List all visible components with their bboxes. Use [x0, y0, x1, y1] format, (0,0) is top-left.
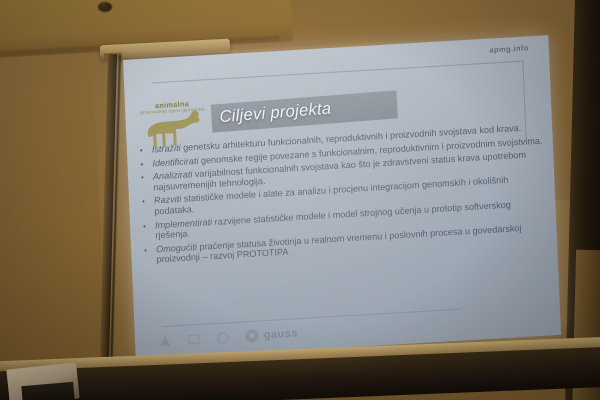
bullet-list: • Istražiti genetsku arhitekturu funkcio… [147, 122, 550, 269]
bullet-dot-icon: • [144, 246, 147, 257]
gauss-flower-icon [244, 327, 261, 344]
bullet-dot-icon: • [140, 160, 143, 171]
partner-logo-mark-2-icon [186, 331, 203, 348]
slide-header-label: apmg.info [489, 43, 529, 54]
bullet-lead: Identificirati [152, 155, 198, 168]
partner-logo-mark-icon [157, 333, 174, 350]
bullet-lead: Istražiti [152, 143, 181, 155]
bullet-dot-icon: • [143, 222, 146, 233]
presentation-slide: apmg.info animalna proizvodnja njena gen… [123, 35, 561, 360]
bullet-dot-icon: • [140, 146, 143, 157]
gauss-label: gauss [264, 327, 298, 341]
projected-slide-wrapper: apmg.info animalna proizvodnja njena gen… [123, 35, 561, 360]
photo-scene: apmg.info animalna proizvodnja njena gen… [0, 0, 600, 400]
slide-rule-top [152, 61, 523, 84]
gauss-logo: gauss [244, 325, 298, 344]
bullet-dot-icon: • [142, 197, 145, 208]
circle-mark-icon [215, 329, 232, 346]
bullet-dot-icon: • [141, 173, 144, 184]
